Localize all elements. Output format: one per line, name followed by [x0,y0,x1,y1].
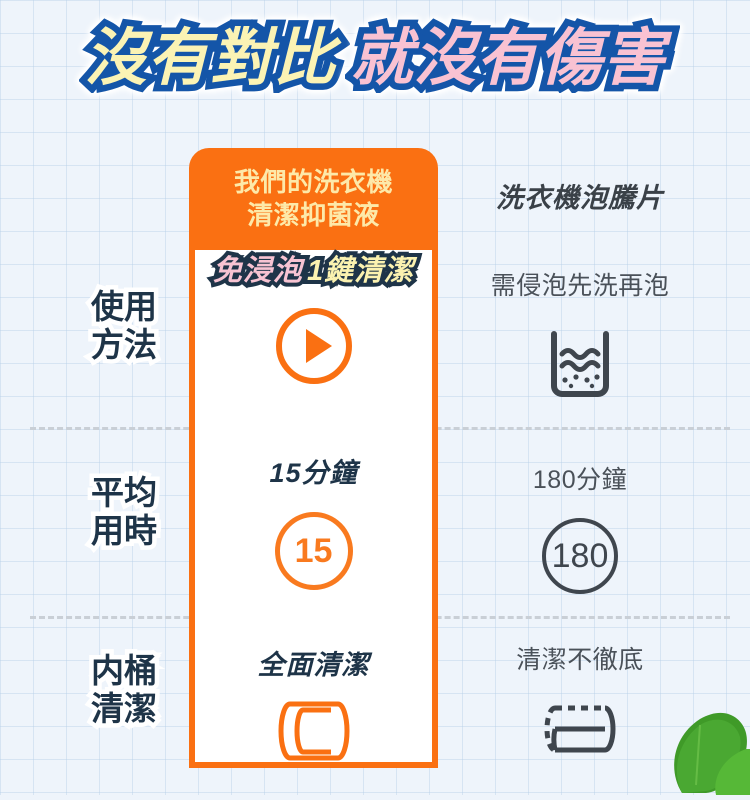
leaf-decoration [620,685,750,795]
title-part-2: 就沒有傷害 [351,26,666,91]
usage-badge-pink: 免浸泡 [213,255,303,287]
row-label-usage-line2: 方法 [58,326,190,364]
ours-drum-caption: 全面清潔 [258,643,370,682]
card-header-line1: 我們的洗衣機 [234,166,393,199]
row-label-drum-line2: 清潔 [58,690,190,728]
ours-cell-time: 15分鐘 15 [195,425,432,621]
usage-badge: 免浸泡1鍵清潔 [213,256,414,288]
row-label-usage: 使用 方法 [58,288,190,365]
ours-time-caption: 15分鐘 [269,451,357,490]
row-label-time-line1: 平均 [58,474,190,512]
soaking-basin-icon [452,328,708,402]
drum-full-icon [274,698,354,764]
row-label-time-line2: 用時 [58,512,190,550]
competitor-cell-usage: 需侵泡先洗再泡 [452,266,708,402]
card-header: 我們的洗衣機 清潔抑菌液 [189,148,438,250]
number-circle-icon: 180 [542,518,618,594]
row-label-drum: 内桶 清潔 [58,652,190,729]
number-circle-icon: 15 [275,512,353,590]
card-header-line2: 清潔抑菌液 [247,199,380,232]
title-part-1: 沒有對比 [84,26,336,91]
competitor-time-value: 180 [552,537,609,576]
competitor-drum-caption: 清潔不徹底 [452,640,708,676]
page-title: 沒有對比就沒有傷害 [0,26,750,91]
competitor-cell-time: 180分鐘 180 [452,460,708,594]
play-circle-icon[interactable] [274,306,354,386]
ours-time-value: 15 [295,532,333,571]
row-label-time: 平均 用時 [58,474,190,551]
card-body: 免浸泡1鍵清潔 15分鐘 15 全面清潔 [189,250,438,768]
row-label-usage-line1: 使用 [58,288,190,326]
row-label-drum-line1: 内桶 [58,652,190,690]
ours-cell-drum: 全面清潔 [195,621,432,768]
column-header-competitor: 洗衣機泡騰片 [452,176,708,215]
ours-cell-usage: 免浸泡1鍵清潔 [195,250,432,425]
competitor-usage-caption: 需侵泡先洗再泡 [452,266,708,302]
competitor-time-caption: 180分鐘 [452,460,708,496]
product-card-ours: 我們的洗衣機 清潔抑菌液 免浸泡1鍵清潔 15分鐘 15 全面清潔 [189,148,438,768]
usage-badge-yellow: 1鍵清潔 [307,255,414,287]
